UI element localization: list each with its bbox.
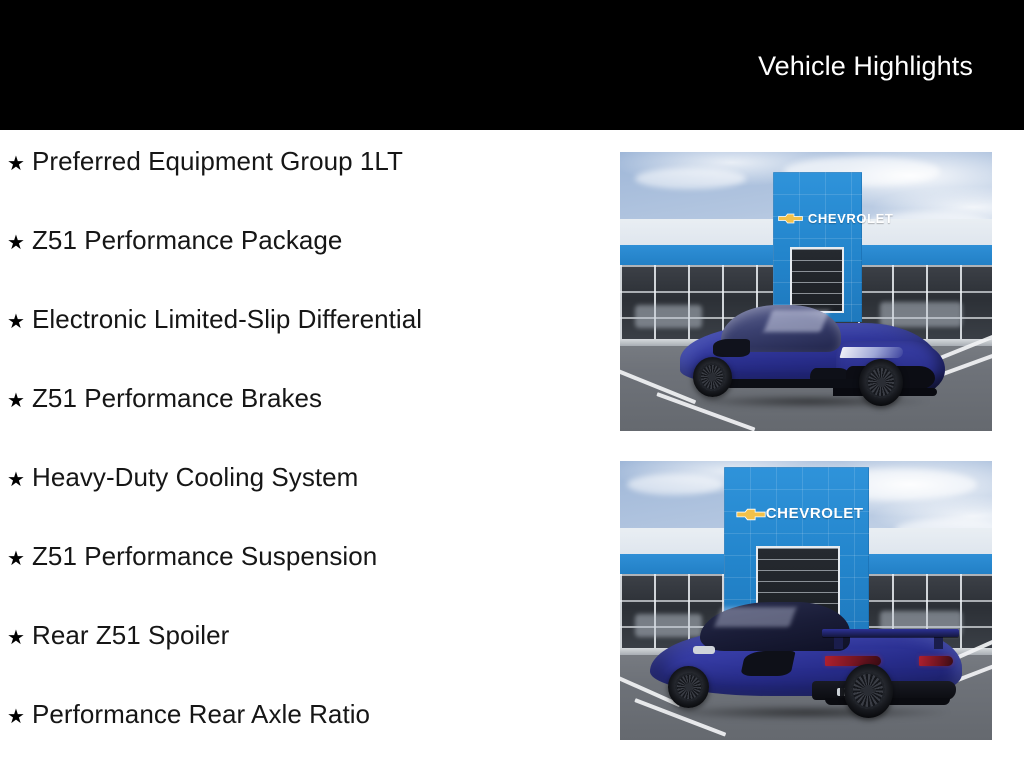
list-item: ★ Rear Z51 Spoiler	[0, 620, 600, 699]
rocker-panel	[726, 379, 861, 388]
front-wheel	[668, 666, 709, 708]
headlight	[839, 347, 905, 358]
list-item: ★ Preferred Equipment Group 1LT	[0, 146, 600, 225]
windshield-glare	[764, 310, 830, 332]
dealer-name-text: CHEVROLET	[808, 212, 894, 225]
highlight-label: Performance Rear Axle Ratio	[32, 699, 370, 729]
cloud-icon	[635, 168, 747, 189]
list-item: ★ Z51 Performance Suspension	[0, 541, 600, 620]
list-item: ★ Performance Rear Axle Ratio	[0, 699, 600, 778]
dealer-name-text: CHEVROLET	[766, 506, 864, 521]
taillight	[919, 656, 953, 666]
header-bar: Vehicle Highlights	[0, 0, 1024, 130]
dealer-sign: CHEVROLET	[778, 203, 857, 233]
list-item: ★ Heavy-Duty Cooling System	[0, 462, 600, 541]
side-air-intake	[741, 651, 796, 676]
side-mirror	[693, 646, 715, 653]
list-item: ★ Z51 Performance Package	[0, 225, 600, 304]
star-icon: ★	[0, 151, 32, 177]
list-item: ★ Electronic Limited-Slip Differential	[0, 304, 600, 383]
dealership-scene: CHEVROLET	[620, 461, 992, 740]
front-wheel	[859, 359, 903, 406]
vehicle-front-three-quarter	[680, 294, 940, 406]
spoiler-strut	[834, 637, 843, 649]
list-item: ★ Z51 Performance Brakes	[0, 383, 600, 462]
dealer-sign: CHEVROLET	[736, 498, 861, 529]
vehicle-shadow	[662, 705, 949, 720]
rear-spoiler	[822, 629, 959, 636]
cabin-glass-glare	[715, 607, 797, 627]
vehicle-rear-three-quarter	[650, 595, 962, 718]
star-icon: ★	[0, 388, 32, 414]
cloud-icon	[627, 474, 724, 495]
star-icon: ★	[0, 230, 32, 256]
star-icon: ★	[0, 309, 32, 335]
vehicle-highlights-page: Vehicle Highlights ★ Preferred Equipment…	[0, 0, 1024, 768]
highlight-label: Electronic Limited-Slip Differential	[32, 304, 422, 334]
vehicle-photo-rear[interactable]: CHEVROLET	[620, 461, 992, 740]
wheel-hub	[877, 378, 886, 387]
chevrolet-bowtie-icon	[778, 213, 803, 224]
rear-wheel	[693, 357, 732, 397]
vehicle-highlights-list: ★ Preferred Equipment Group 1LT ★ Z51 Pe…	[0, 146, 600, 778]
highlight-label: Z51 Performance Suspension	[32, 541, 377, 571]
star-icon: ★	[0, 467, 32, 493]
star-icon: ★	[0, 625, 32, 651]
wheel-hub	[708, 373, 716, 381]
highlight-label: Z51 Performance Package	[32, 225, 342, 255]
vehicle-photo-front[interactable]: CHEVROLET	[620, 152, 992, 431]
page-title: Vehicle Highlights	[758, 50, 973, 82]
highlight-label: Z51 Performance Brakes	[32, 383, 322, 413]
dealership-scene: CHEVROLET	[620, 152, 992, 431]
chevrolet-bowtie-icon	[736, 508, 761, 519]
side-air-intake	[713, 339, 749, 357]
highlight-label: Heavy-Duty Cooling System	[32, 462, 358, 492]
wheel-hub	[685, 683, 693, 691]
star-icon: ★	[0, 704, 32, 730]
spoiler-strut	[934, 637, 943, 649]
rear-wheel	[844, 664, 894, 718]
star-icon: ★	[0, 546, 32, 572]
highlight-label: Preferred Equipment Group 1LT	[32, 146, 403, 176]
highlight-label: Rear Z51 Spoiler	[32, 620, 229, 650]
